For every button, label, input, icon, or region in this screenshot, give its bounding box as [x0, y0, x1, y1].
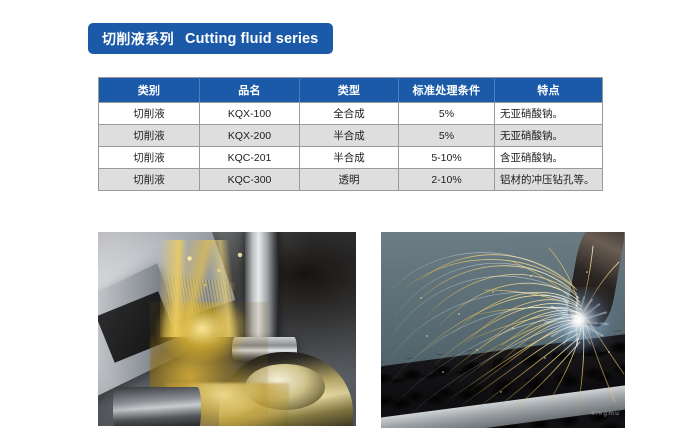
cell-condition: 5%	[399, 125, 495, 147]
cell-product: KQX-100	[200, 103, 300, 125]
column-header-type: 类型	[300, 78, 399, 103]
cell-product: KQC-300	[200, 169, 300, 191]
cell-features: 含亚硝酸钠。	[495, 147, 603, 169]
cell-category: 切削液	[99, 125, 200, 147]
cell-product: KQX-200	[200, 125, 300, 147]
cell-type: 全合成	[300, 103, 399, 125]
photo-machining	[98, 232, 356, 426]
photo-welding: siegmu	[381, 232, 625, 428]
column-header-product: 品名	[200, 78, 300, 103]
column-header-features: 特点	[495, 78, 603, 103]
table-row: 切削液 KQC-201 半合成 5-10% 含亚硝酸钠。	[99, 147, 603, 169]
cell-features: 无亚硝酸钠。	[495, 125, 603, 147]
cell-type: 半合成	[300, 147, 399, 169]
photo-welding-watermark: siegmu	[591, 410, 620, 417]
cell-condition: 5-10%	[399, 147, 495, 169]
column-header-category: 类别	[99, 78, 200, 103]
cell-category: 切削液	[99, 169, 200, 191]
section-title-en: Cutting fluid series	[185, 31, 318, 47]
photo-machining-vignette	[98, 232, 356, 426]
cell-type: 半合成	[300, 125, 399, 147]
welding-arc-rays	[545, 296, 608, 347]
cutting-fluid-spec-table: 类别 品名 类型 标准处理条件 特点 切削液 KQX-100 全合成 5% 无亚…	[98, 77, 603, 191]
cell-type: 透明	[300, 169, 399, 191]
column-header-condition: 标准处理条件	[399, 78, 495, 103]
cell-condition: 2-10%	[399, 169, 495, 191]
table-row: 切削液 KQX-200 半合成 5% 无亚硝酸钠。	[99, 125, 603, 147]
table-row: 切削液 KQX-100 全合成 5% 无亚硝酸钠。	[99, 103, 603, 125]
cell-condition: 5%	[399, 103, 495, 125]
section-title-cn: 切削液系列	[102, 29, 174, 49]
cell-category: 切削液	[99, 103, 200, 125]
table-row: 切削液 KQC-300 透明 2-10% 铝材的冲压钻孔等。	[99, 169, 603, 191]
table-header-row: 类别 品名 类型 标准处理条件 特点	[99, 78, 603, 103]
cell-product: KQC-201	[200, 147, 300, 169]
cell-features: 铝材的冲压钻孔等。	[495, 169, 603, 191]
section-title-badge: 切削液系列 Cutting fluid series	[88, 23, 333, 54]
cell-features: 无亚硝酸钠。	[495, 103, 603, 125]
cell-category: 切削液	[99, 147, 200, 169]
